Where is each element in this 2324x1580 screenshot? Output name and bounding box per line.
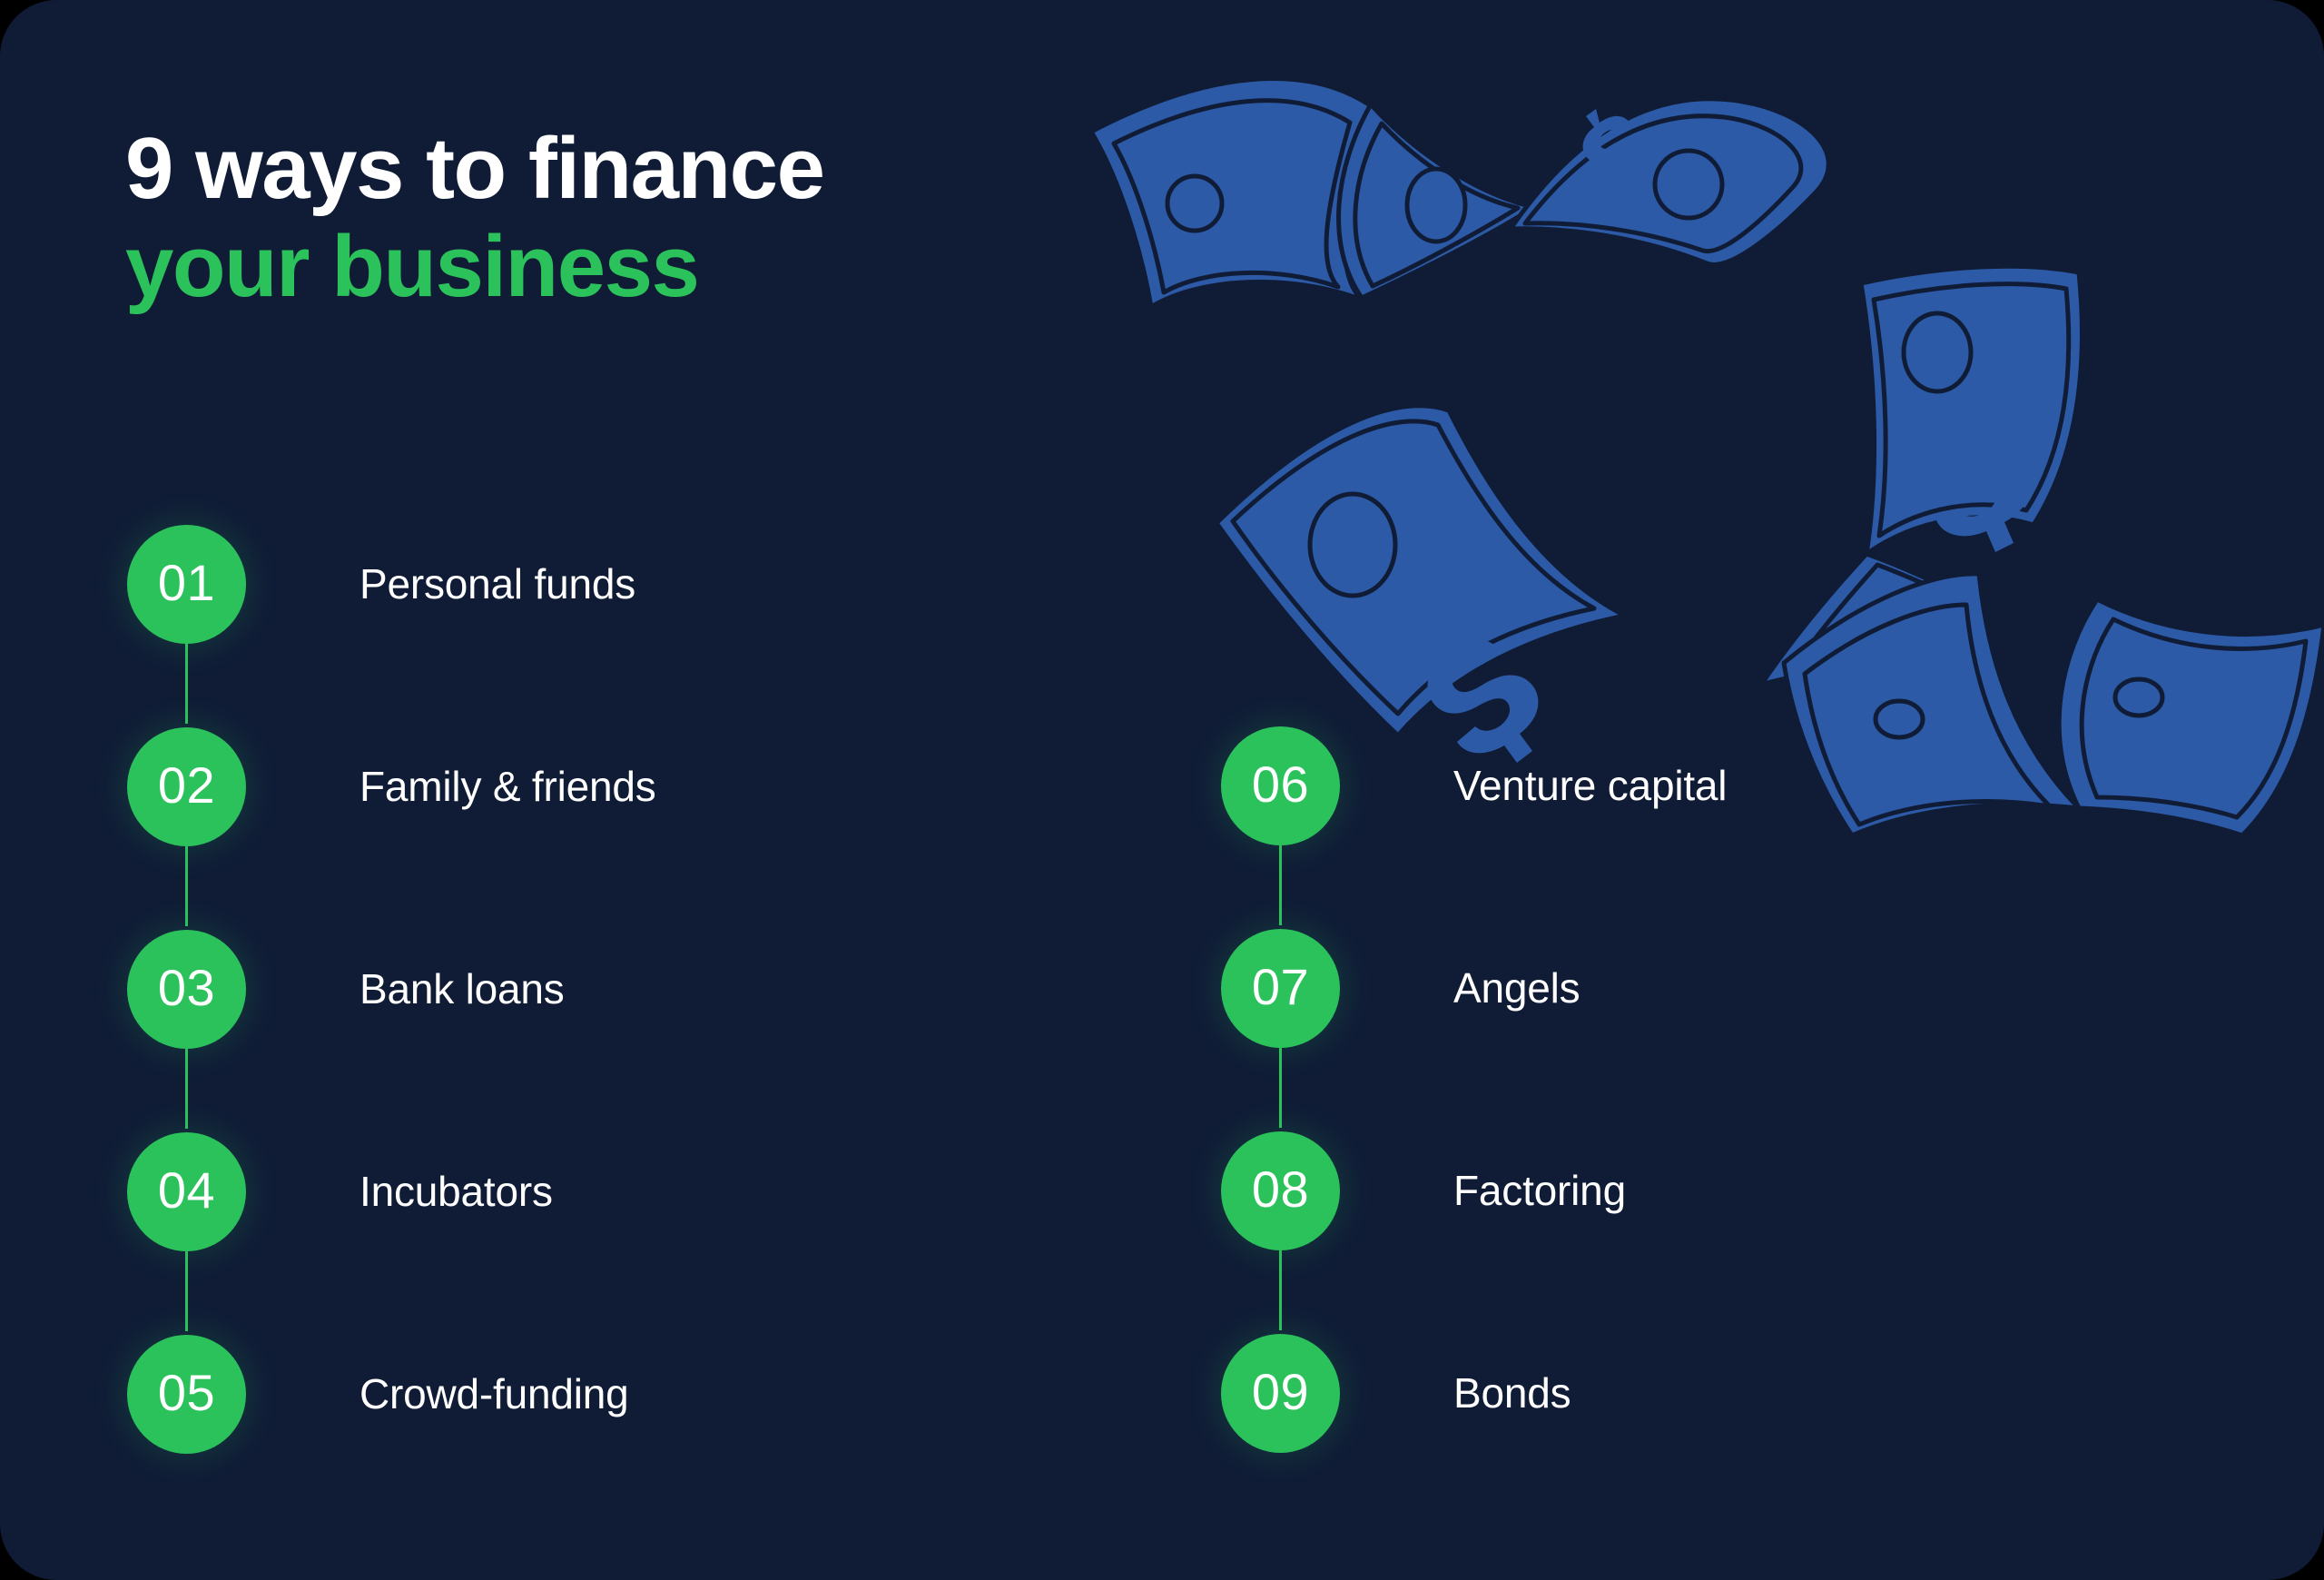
step-number: 02 [158, 760, 215, 811]
title-line-2: your business [125, 218, 823, 316]
timeline-step: 01 Personal funds [127, 522, 656, 646]
step-number: 01 [158, 558, 215, 608]
step-number: 08 [1252, 1164, 1309, 1215]
page-title: 9 ways to finance your business [125, 120, 823, 317]
step-number: 03 [158, 963, 215, 1013]
step-badge-02: 02 [127, 727, 246, 846]
step-badge-09: 09 [1221, 1334, 1340, 1453]
step-label: Bonds [1453, 1368, 1571, 1417]
dollar-bill-6 [1784, 574, 2079, 835]
timeline-step: 04 Incubators [127, 1130, 656, 1253]
step-number: 05 [158, 1368, 215, 1418]
step-badge-05: 05 [127, 1335, 246, 1454]
step-label: Venture capital [1453, 761, 1727, 810]
step-connector [1279, 1048, 1282, 1128]
step-connector [1279, 845, 1282, 925]
timeline-step: 08 Factoring [1221, 1129, 1727, 1252]
step-badge-06: 06 [1221, 726, 1340, 845]
timeline-step: 09 Bonds [1221, 1331, 1727, 1455]
dollar-bill-7 [2023, 599, 2324, 901]
dollar-bill-5 [1761, 266, 2082, 685]
timeline-column-right: 06 Venture capital 07 Angels 08 Factorin… [1221, 724, 1727, 1455]
step-label: Crowd-funding [359, 1369, 629, 1418]
timeline-column-left: 01 Personal funds 02 Family & friends 03… [127, 522, 656, 1456]
step-connector [185, 1049, 188, 1129]
step-badge-07: 07 [1221, 929, 1340, 1048]
step-badge-08: 08 [1221, 1131, 1340, 1250]
step-number: 04 [158, 1165, 215, 1216]
title-line-1: 9 ways to finance [125, 120, 823, 218]
step-connector [185, 644, 188, 724]
step-connector [185, 1251, 188, 1331]
step-number: 07 [1252, 962, 1309, 1012]
dollar-bill-1 [1091, 79, 1373, 307]
step-label: Family & friends [359, 762, 656, 811]
step-connector [1279, 1250, 1282, 1330]
step-label: Angels [1453, 963, 1580, 1012]
step-label: Personal funds [359, 559, 635, 608]
infographic-card: 9 ways to finance your business 01 Perso… [0, 0, 2324, 1580]
timeline-step: 03 Bank loans [127, 927, 656, 1051]
step-connector [185, 846, 188, 926]
timeline-step: 07 Angels [1221, 926, 1727, 1050]
dollar-bill-4 [1216, 406, 1625, 763]
step-label: Bank loans [359, 964, 565, 1013]
step-number: 06 [1252, 759, 1309, 810]
step-badge-03: 03 [127, 930, 246, 1049]
step-badge-04: 04 [127, 1132, 246, 1251]
dollar-bill-3 [1511, 99, 1828, 265]
step-label: Factoring [1453, 1166, 1626, 1215]
step-number: 09 [1252, 1367, 1309, 1417]
step-label: Incubators [359, 1167, 553, 1216]
step-badge-01: 01 [127, 525, 246, 644]
timeline-step: 02 Family & friends [127, 725, 656, 848]
timeline-step: 05 Crowd-funding [127, 1332, 656, 1456]
dollar-bill-2 [1339, 104, 1534, 298]
timeline-step: 06 Venture capital [1221, 724, 1727, 847]
